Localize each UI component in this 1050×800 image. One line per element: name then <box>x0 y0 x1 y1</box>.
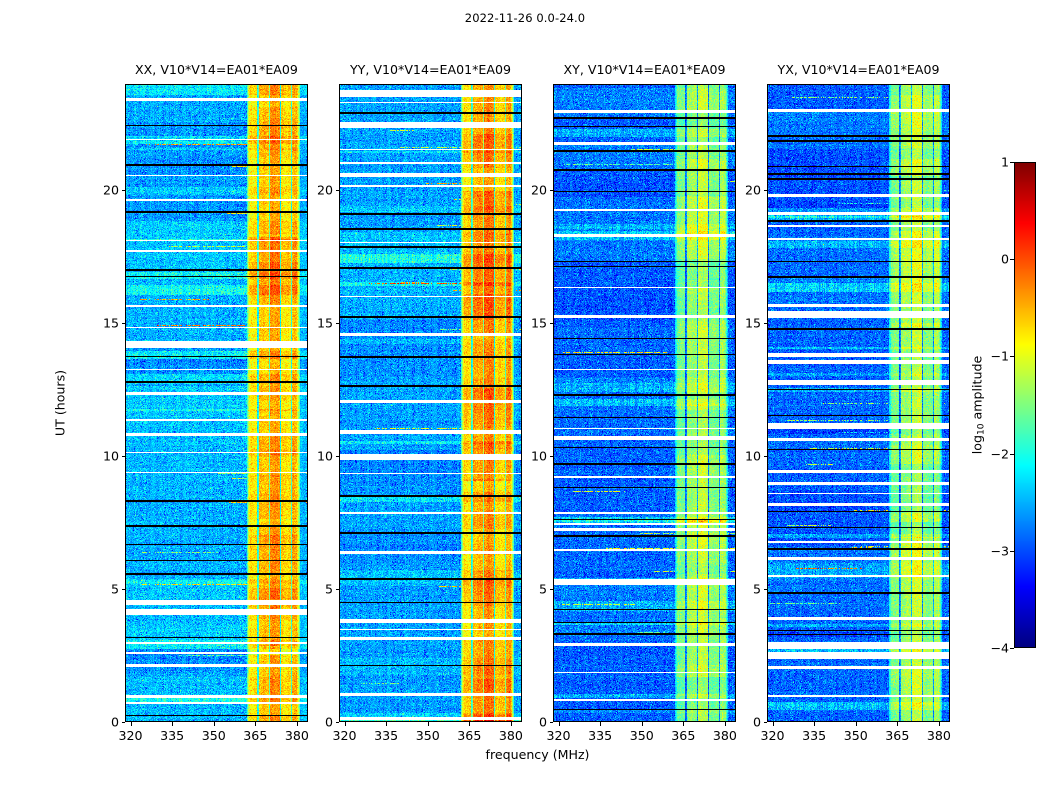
x-tick-mark <box>386 722 387 726</box>
y-tick-label: 0 <box>81 715 119 730</box>
x-tick-mark <box>131 722 132 726</box>
colorbar-tick-mark <box>1010 648 1014 649</box>
y-tick-mark <box>550 722 554 723</box>
y-tick-label: 0 <box>723 715 761 730</box>
y-tick-mark <box>122 190 126 191</box>
x-tick-mark <box>345 722 346 726</box>
y-tick-mark <box>764 456 768 457</box>
y-tick-mark <box>336 722 340 723</box>
x-tick-mark <box>683 722 684 726</box>
y-tick-label: 5 <box>81 582 119 597</box>
y-tick-label: 10 <box>81 449 119 464</box>
y-tick-mark <box>550 456 554 457</box>
x-tick-mark <box>214 722 215 726</box>
y-tick-mark <box>550 589 554 590</box>
colorbar-tick-label: −2 <box>990 446 1009 461</box>
colorbar-tick-label: −1 <box>990 349 1009 364</box>
panel-yy[interactable]: YY, V10*V14=EA01*EA09 <box>339 84 522 722</box>
y-tick-label: 20 <box>509 183 547 198</box>
x-tick-mark <box>773 722 774 726</box>
x-tick-label: 335 <box>588 728 612 743</box>
y-tick-label: 0 <box>295 715 333 730</box>
x-tick-mark <box>428 722 429 726</box>
x-tick-mark <box>469 722 470 726</box>
x-tick-label: 365 <box>885 728 909 743</box>
x-tick-label: 335 <box>160 728 184 743</box>
x-tick-label: 320 <box>547 728 571 743</box>
x-tick-label: 380 <box>713 728 737 743</box>
x-tick-label: 380 <box>285 728 309 743</box>
panel-xx[interactable]: XX, V10*V14=EA01*EA09 <box>125 84 308 722</box>
y-tick-label: 15 <box>723 316 761 331</box>
panel-title-yx: YX, V10*V14=EA01*EA09 <box>778 62 940 77</box>
y-tick-label: 20 <box>723 183 761 198</box>
x-tick-mark <box>897 722 898 726</box>
colorbar[interactable]: −4−3−2−101 <box>1014 162 1036 648</box>
panel-title-xx: XX, V10*V14=EA01*EA09 <box>135 62 298 77</box>
panel-xy[interactable]: XY, V10*V14=EA01*EA09 <box>553 84 736 722</box>
x-tick-label: 380 <box>499 728 523 743</box>
colorbar-tick-mark <box>1010 454 1014 455</box>
colorbar-tick-mark <box>1010 162 1014 163</box>
colorbar-tick-label: 1 <box>1001 155 1009 170</box>
x-tick-mark <box>559 722 560 726</box>
y-tick-mark <box>122 456 126 457</box>
x-axis-label: frequency (MHz) <box>486 747 590 762</box>
y-tick-mark <box>550 190 554 191</box>
y-tick-mark <box>764 323 768 324</box>
panel-title-yy: YY, V10*V14=EA01*EA09 <box>350 62 511 77</box>
x-tick-label: 335 <box>374 728 398 743</box>
y-tick-label: 10 <box>295 449 333 464</box>
y-tick-label: 10 <box>723 449 761 464</box>
x-tick-label: 350 <box>630 728 654 743</box>
y-tick-label: 20 <box>81 183 119 198</box>
y-tick-mark <box>764 722 768 723</box>
x-tick-mark <box>856 722 857 726</box>
y-axis-label: UT (hours) <box>53 370 68 436</box>
y-tick-label: 5 <box>723 582 761 597</box>
y-tick-label: 10 <box>509 449 547 464</box>
x-tick-label: 380 <box>927 728 951 743</box>
colorbar-tick-label: −4 <box>990 641 1009 656</box>
y-tick-label: 0 <box>509 715 547 730</box>
x-tick-mark <box>939 722 940 726</box>
colorbar-tick-mark <box>1010 259 1014 260</box>
x-tick-label: 365 <box>457 728 481 743</box>
y-tick-mark <box>764 190 768 191</box>
colorbar-label: log10 amplitude <box>970 356 987 454</box>
panel-title-xy: XY, V10*V14=EA01*EA09 <box>564 62 726 77</box>
colorbar-tick-label: −3 <box>990 543 1009 558</box>
x-tick-label: 365 <box>671 728 695 743</box>
y-tick-mark <box>122 589 126 590</box>
x-tick-label: 320 <box>761 728 785 743</box>
x-tick-mark <box>814 722 815 726</box>
y-tick-label: 20 <box>295 183 333 198</box>
y-tick-label: 15 <box>81 316 119 331</box>
x-tick-label: 350 <box>844 728 868 743</box>
waterfall-image-xx <box>125 84 308 722</box>
colorbar-tick-mark <box>1010 551 1014 552</box>
waterfall-image-yy <box>339 84 522 722</box>
panel-yx[interactable]: YX, V10*V14=EA01*EA09 <box>767 84 950 722</box>
x-tick-label: 320 <box>333 728 357 743</box>
waterfall-figure: 2022-11-26 0.0-24.0 XX, V10*V14=EA01*EA0… <box>0 0 1050 800</box>
x-tick-label: 320 <box>119 728 143 743</box>
x-tick-label: 365 <box>243 728 267 743</box>
y-tick-mark <box>336 323 340 324</box>
colorbar-tick-mark <box>1010 356 1014 357</box>
y-tick-label: 15 <box>295 316 333 331</box>
figure-suptitle: 2022-11-26 0.0-24.0 <box>0 11 1050 25</box>
y-tick-mark <box>550 323 554 324</box>
y-tick-mark <box>336 456 340 457</box>
y-tick-mark <box>336 190 340 191</box>
x-tick-mark <box>172 722 173 726</box>
colorbar-frame <box>1014 162 1036 648</box>
y-tick-mark <box>122 323 126 324</box>
waterfall-image-xy <box>553 84 736 722</box>
y-tick-mark <box>336 589 340 590</box>
x-tick-mark <box>600 722 601 726</box>
x-tick-mark <box>642 722 643 726</box>
x-tick-label: 350 <box>416 728 440 743</box>
colorbar-tick-label: 0 <box>1001 252 1009 267</box>
y-tick-label: 5 <box>509 582 547 597</box>
y-tick-label: 15 <box>509 316 547 331</box>
x-tick-mark <box>255 722 256 726</box>
x-tick-label: 335 <box>802 728 826 743</box>
y-tick-mark <box>764 589 768 590</box>
y-tick-label: 5 <box>295 582 333 597</box>
y-tick-mark <box>122 722 126 723</box>
x-tick-label: 350 <box>202 728 226 743</box>
waterfall-image-yx <box>767 84 950 722</box>
